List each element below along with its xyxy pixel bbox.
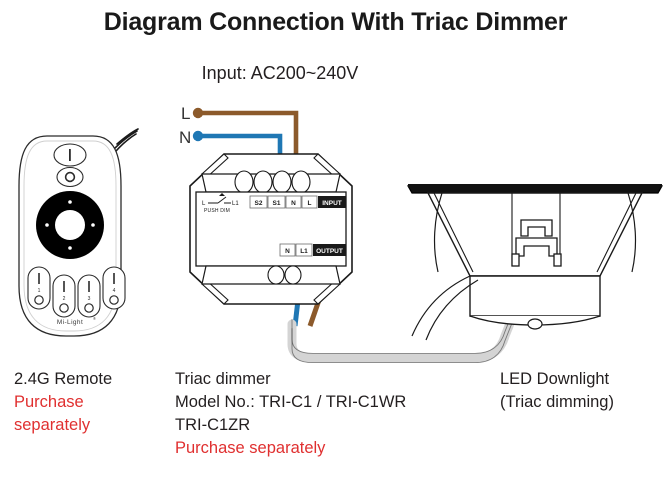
svg-text:PUSH DIM: PUSH DIM: [204, 208, 230, 214]
terminal-label-s2: S2: [255, 200, 263, 207]
remote-control-illustration: 1 2 3 4 Mi-Light ®: [14, 128, 154, 343]
terminal-label-n-in: N: [291, 200, 296, 207]
input-badge-label: INPUT: [322, 200, 342, 207]
led-downlight-illustration: [404, 176, 666, 341]
svg-text:L1: L1: [232, 201, 239, 207]
input-voltage-label: Input: AC200~240V: [0, 63, 560, 84]
caption-dimmer-name: Triac dimmer: [175, 368, 406, 391]
remote-touch-wheel[interactable]: [36, 191, 104, 259]
remote-zone-button-3[interactable]: 3: [78, 275, 100, 317]
remote-power-off-button[interactable]: [57, 168, 83, 187]
caption-downlight-mode: (Triac dimming): [500, 391, 614, 414]
terminal-label-l-in: L: [308, 200, 312, 207]
remote-zone-button-1[interactable]: 1: [28, 267, 50, 309]
remote-power-on-button[interactable]: [54, 144, 86, 166]
svg-text:3: 3: [88, 296, 91, 302]
dimmer-input-terminal-row: S2 S1 N L INPUT: [250, 196, 346, 208]
downlight-cone: [428, 193, 642, 276]
svg-text:®: ®: [93, 316, 96, 321]
remote-zone-button-2[interactable]: 2: [53, 275, 75, 317]
terminal-label-l1-out: L1: [300, 248, 308, 255]
svg-text:4: 4: [113, 288, 116, 294]
downlight-barrel: [470, 276, 600, 316]
caption-remote-name: 2.4G Remote: [14, 368, 112, 391]
downlight-trim-ring: [408, 186, 662, 193]
downlight-lead-outline-upper: [412, 276, 470, 336]
caption-dimmer-note: Purchase separately: [175, 437, 406, 460]
neutral-wire-label: N: [179, 128, 191, 148]
diagram-page: Diagram Connection With Triac Dimmer Inp…: [0, 0, 671, 489]
caption-remote-note-1: Purchase: [14, 391, 112, 414]
terminal-label-s1: S1: [273, 200, 281, 207]
output-badge-label: OUTPUT: [316, 248, 343, 255]
caption-dimmer-model-2: TRI-C1ZR: [175, 414, 406, 437]
dimmer-output-terminal-row: N L1 OUTPUT: [280, 244, 346, 256]
caption-downlight: LED Downlight (Triac dimming): [500, 368, 614, 414]
remote-brand-label: Mi-Light: [57, 319, 83, 326]
caption-remote-note-2: separately: [14, 414, 112, 437]
caption-remote: 2.4G Remote Purchase separately: [14, 368, 112, 437]
caption-downlight-name: LED Downlight: [500, 368, 614, 391]
terminal-label-n-out: N: [285, 248, 290, 255]
svg-text:1: 1: [38, 288, 41, 294]
svg-text:2: 2: [63, 296, 66, 302]
downlight-wire-entry: [528, 319, 542, 329]
live-wire-label: L: [181, 104, 190, 124]
remote-zone-button-4[interactable]: 4: [103, 267, 125, 309]
caption-dimmer: Triac dimmer Model No.: TRI-C1 / TRI-C1W…: [175, 368, 406, 460]
caption-dimmer-model-1: Model No.: TRI-C1 / TRI-C1WR: [175, 391, 406, 414]
page-title: Diagram Connection With Triac Dimmer: [0, 8, 671, 37]
triac-dimmer-illustration: L L1 PUSH DIM S2 S1 N L: [188, 152, 354, 307]
